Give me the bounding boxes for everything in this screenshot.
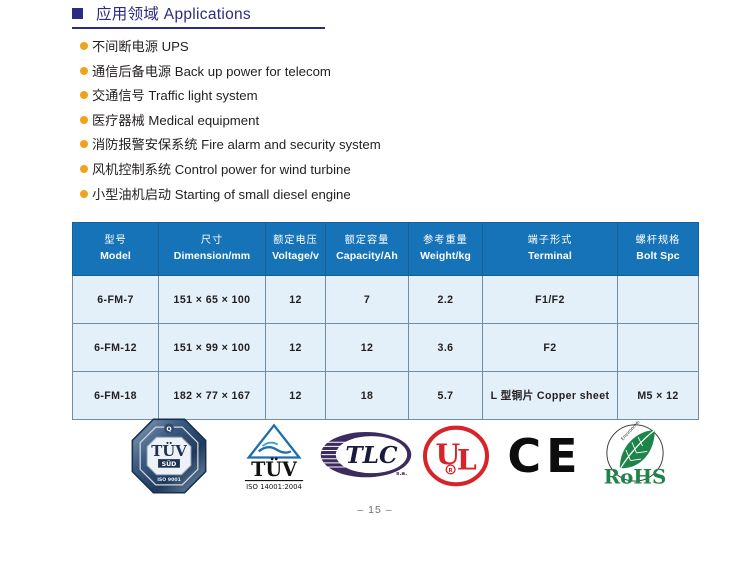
cert-ul: U L R [416,416,496,496]
list-item: 消防报警安保系统 Fire alarm and security system [80,138,640,163]
cell-voltage: 12 [266,372,326,420]
cell-dimension: 182 × 77 × 167 [159,372,266,420]
cert-tuv-iso14001: TÜV ISO 14001:2004 [224,416,324,496]
list-item: 不间断电源 UPS [80,40,640,65]
column-header-en: Voltage/v [267,249,324,264]
svg-text:L: L [457,442,477,476]
page-title: 应用领域 Applications [96,2,251,24]
ce-mark-icon: CE [507,433,582,479]
cell-bolt: M5 × 12 [618,372,699,420]
svg-text:TÜV: TÜV [251,458,298,481]
svg-text:ISO 9001: ISO 9001 [157,477,181,483]
list-item-label: 通信后备电源 Back up power for telecom [92,65,331,78]
column-header-cn: 尺寸 [160,234,264,249]
square-bullet-icon [72,8,83,19]
cell-weight: 5.7 [409,372,483,420]
column-header-voltage: 额定电压 Voltage/v [266,223,326,276]
cert-rohs: Environment Friendly RoHS [590,416,680,496]
orange-dot-icon [80,91,88,99]
svg-text:TÜV: TÜV [151,441,187,460]
applications-list: 不间断电源 UPS 通信后备电源 Back up power for telec… [80,40,640,212]
orange-dot-icon [80,67,88,75]
list-item-label: 小型油机启动 Starting of small diesel engine [92,188,351,201]
cell-terminal: L 型铜片 Copper sheet [483,372,618,420]
column-header-model: 型号 Model [73,223,159,276]
column-header-cn: 端子形式 [484,234,616,249]
column-header-cn: 参考重量 [410,234,481,249]
tuv-iso14001-logo-icon: TÜV ISO 14001:2004 [228,420,320,492]
cell-voltage: 12 [266,276,326,324]
list-item-label: 医疗器械 Medical equipment [92,114,259,127]
column-header-cn: 型号 [74,234,157,249]
list-item: 交通信号 Traffic light system [80,89,640,114]
table-row: 6-FM-18 182 × 77 × 167 12 18 5.7 L 型铜片 C… [73,372,699,420]
cell-dimension: 151 × 99 × 100 [159,324,266,372]
cell-model: 6-FM-12 [73,324,159,372]
cell-capacity: 7 [326,276,409,324]
column-header-terminal: 端子形式 Terminal [483,223,618,276]
cell-weight: 2.2 [409,276,483,324]
column-header-en: Weight/kg [410,249,481,264]
list-item: 风机控制系统 Control power for wind turbine [80,163,640,188]
svg-text:TLC: TLC [345,442,398,469]
orange-dot-icon [80,165,88,173]
cell-bolt [618,276,699,324]
cell-model: 6-FM-7 [73,276,159,324]
cell-capacity: 18 [326,372,409,420]
cell-dimension: 151 × 65 × 100 [159,276,266,324]
cell-model: 6-FM-18 [73,372,159,420]
list-item-label: 消防报警安保系统 Fire alarm and security system [92,138,381,151]
column-header-en: Capacity/Ah [327,249,407,264]
list-item: 通信后备电源 Back up power for telecom [80,65,640,90]
cell-capacity: 12 [326,324,409,372]
list-item-label: 不间断电源 UPS [92,40,189,53]
list-item-label: 风机控制系统 Control power for wind turbine [92,163,351,176]
cell-terminal: F1/F2 [483,276,618,324]
cell-voltage: 12 [266,324,326,372]
cert-ce: CE [500,416,590,496]
svg-text:Q: Q [166,426,171,433]
orange-dot-icon [80,140,88,148]
section-heading: 应用领域 Applications [72,2,372,29]
column-header-en: Bolt Spc [619,249,697,264]
column-header-cn: 螺杆规格 [619,234,697,249]
svg-text:ISO 14001:2004: ISO 14001:2004 [246,483,302,491]
page-number: – 15 – [0,504,750,516]
table-row: 6-FM-7 151 × 65 × 100 12 7 2.2 F1/F2 [73,276,699,324]
svg-text:SÜD: SÜD [162,459,177,468]
section-heading-row: 应用领域 Applications [72,2,372,24]
tuv-sud-logo-icon: Q TÜV SÜD ISO 9001 [130,417,208,495]
orange-dot-icon [80,42,88,50]
list-item: 小型油机启动 Starting of small diesel engine [80,188,640,213]
list-item: 医疗器械 Medical equipment [80,114,640,139]
specification-table: 型号 Model 尺寸 Dimension/mm 额定电压 Voltage/v … [72,222,699,420]
cell-weight: 3.6 [409,324,483,372]
svg-text:s.a.: s.a. [396,471,407,477]
cert-tlc: TLC s.a. [316,416,416,496]
svg-text:RoHS: RoHS [604,464,667,488]
table-header-row: 型号 Model 尺寸 Dimension/mm 额定电压 Voltage/v … [73,223,699,276]
orange-dot-icon [80,190,88,198]
heading-divider [72,27,325,29]
column-header-dimension: 尺寸 Dimension/mm [159,223,266,276]
tlc-logo-icon: TLC s.a. [318,427,414,485]
table-row: 6-FM-12 151 × 99 × 100 12 12 3.6 F2 [73,324,699,372]
column-header-weight: 参考重量 Weight/kg [409,223,483,276]
column-header-en: Model [74,249,157,264]
column-header-en: Dimension/mm [160,249,264,264]
column-header-cn: 额定电压 [267,234,324,249]
ul-logo-icon: U L R [422,425,490,487]
cell-bolt [618,324,699,372]
column-header-cn: 额定容量 [327,234,407,249]
column-header-capacity: 额定容量 Capacity/Ah [326,223,409,276]
column-header-bolt: 螺杆规格 Bolt Spc [618,223,699,276]
certification-logos: Q TÜV SÜD ISO 9001 TÜV ISO 14001:2004 [72,416,698,496]
column-header-en: Terminal [484,249,616,264]
orange-dot-icon [80,116,88,124]
rohs-leaf-logo-icon: Environment Friendly RoHS [597,421,673,491]
cell-terminal: F2 [483,324,618,372]
list-item-label: 交通信号 Traffic light system [92,89,258,102]
cert-tuv-sud: Q TÜV SÜD ISO 9001 [124,416,214,496]
